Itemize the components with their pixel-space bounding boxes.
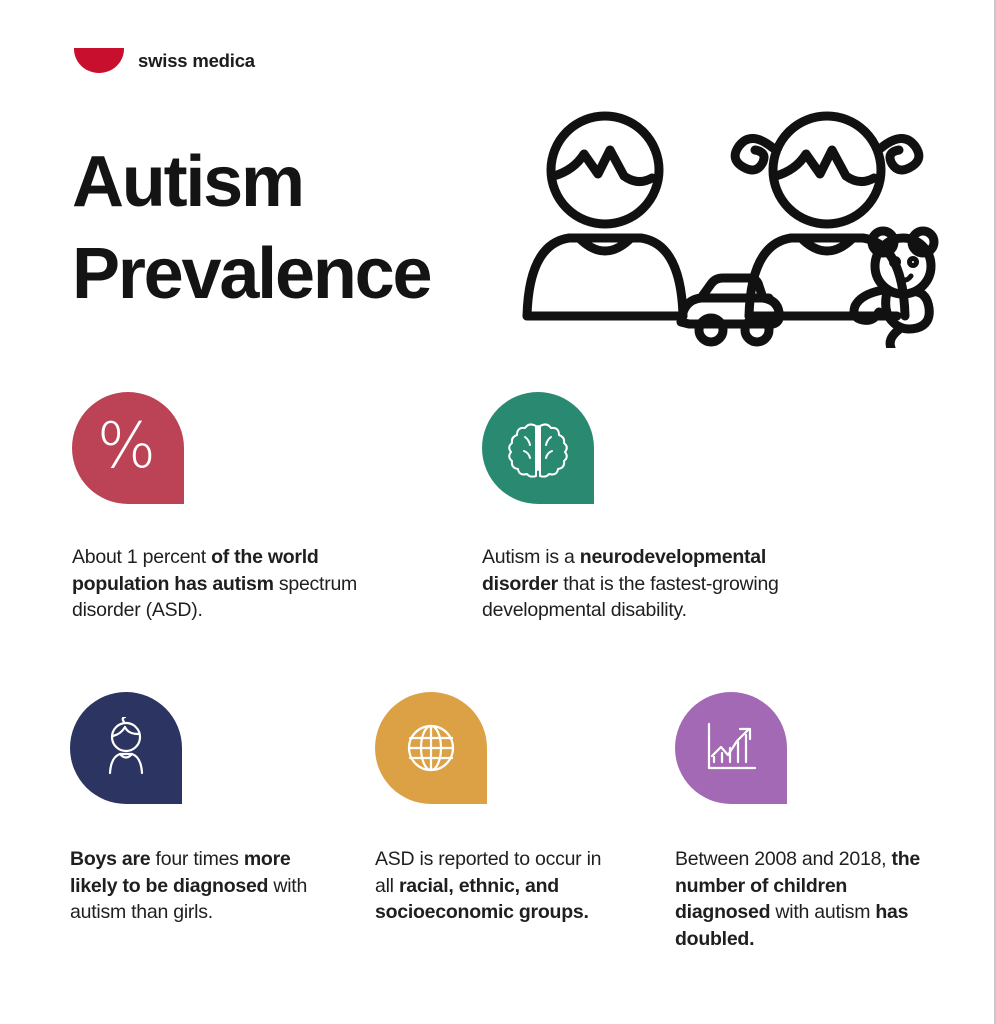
brain-badge — [482, 392, 594, 504]
card-globe-text: ASD is reported to occur in all racial, … — [375, 846, 625, 926]
brain-icon — [507, 417, 569, 479]
brand-name: swiss medica — [138, 50, 255, 72]
boy-person-icon — [97, 717, 155, 779]
infographic-page: swiss medica Autism Prevalence — [0, 0, 996, 1024]
boy-and-girl-with-toys-illustration-icon — [505, 108, 945, 348]
card-boy: Boys are four times more likely to be di… — [70, 692, 330, 926]
page-title: Autism Prevalence — [72, 136, 430, 320]
card-brain: Autism is a neurodevelopmental disorder … — [482, 392, 827, 624]
card-growth-text: Between 2008 and 2018, the number of chi… — [675, 846, 925, 952]
percent-badge: % — [72, 392, 184, 504]
card-boy-text: Boys are four times more likely to be di… — [70, 846, 330, 926]
card-percent: % About 1 percent of the world populatio… — [72, 392, 402, 624]
brand-logo: swiss medica — [74, 48, 255, 73]
growth-chart-badge — [675, 692, 787, 804]
card-globe: ASD is reported to occur in all racial, … — [375, 692, 625, 926]
card-brain-text: Autism is a neurodevelopmental disorder … — [482, 544, 827, 624]
swiss-medica-semicircle-logo-icon — [74, 48, 124, 73]
growth-chart-icon — [701, 720, 761, 776]
page-title-line-1: Autism — [72, 142, 303, 222]
page-title-line-2: Prevalence — [72, 228, 430, 320]
card-growth: Between 2008 and 2018, the number of chi… — [675, 692, 925, 952]
card-percent-text: About 1 percent of the world population … — [72, 544, 402, 624]
globe-badge — [375, 692, 487, 804]
boy-person-badge — [70, 692, 182, 804]
globe-icon — [402, 719, 460, 777]
percent-icon: % — [97, 415, 155, 477]
